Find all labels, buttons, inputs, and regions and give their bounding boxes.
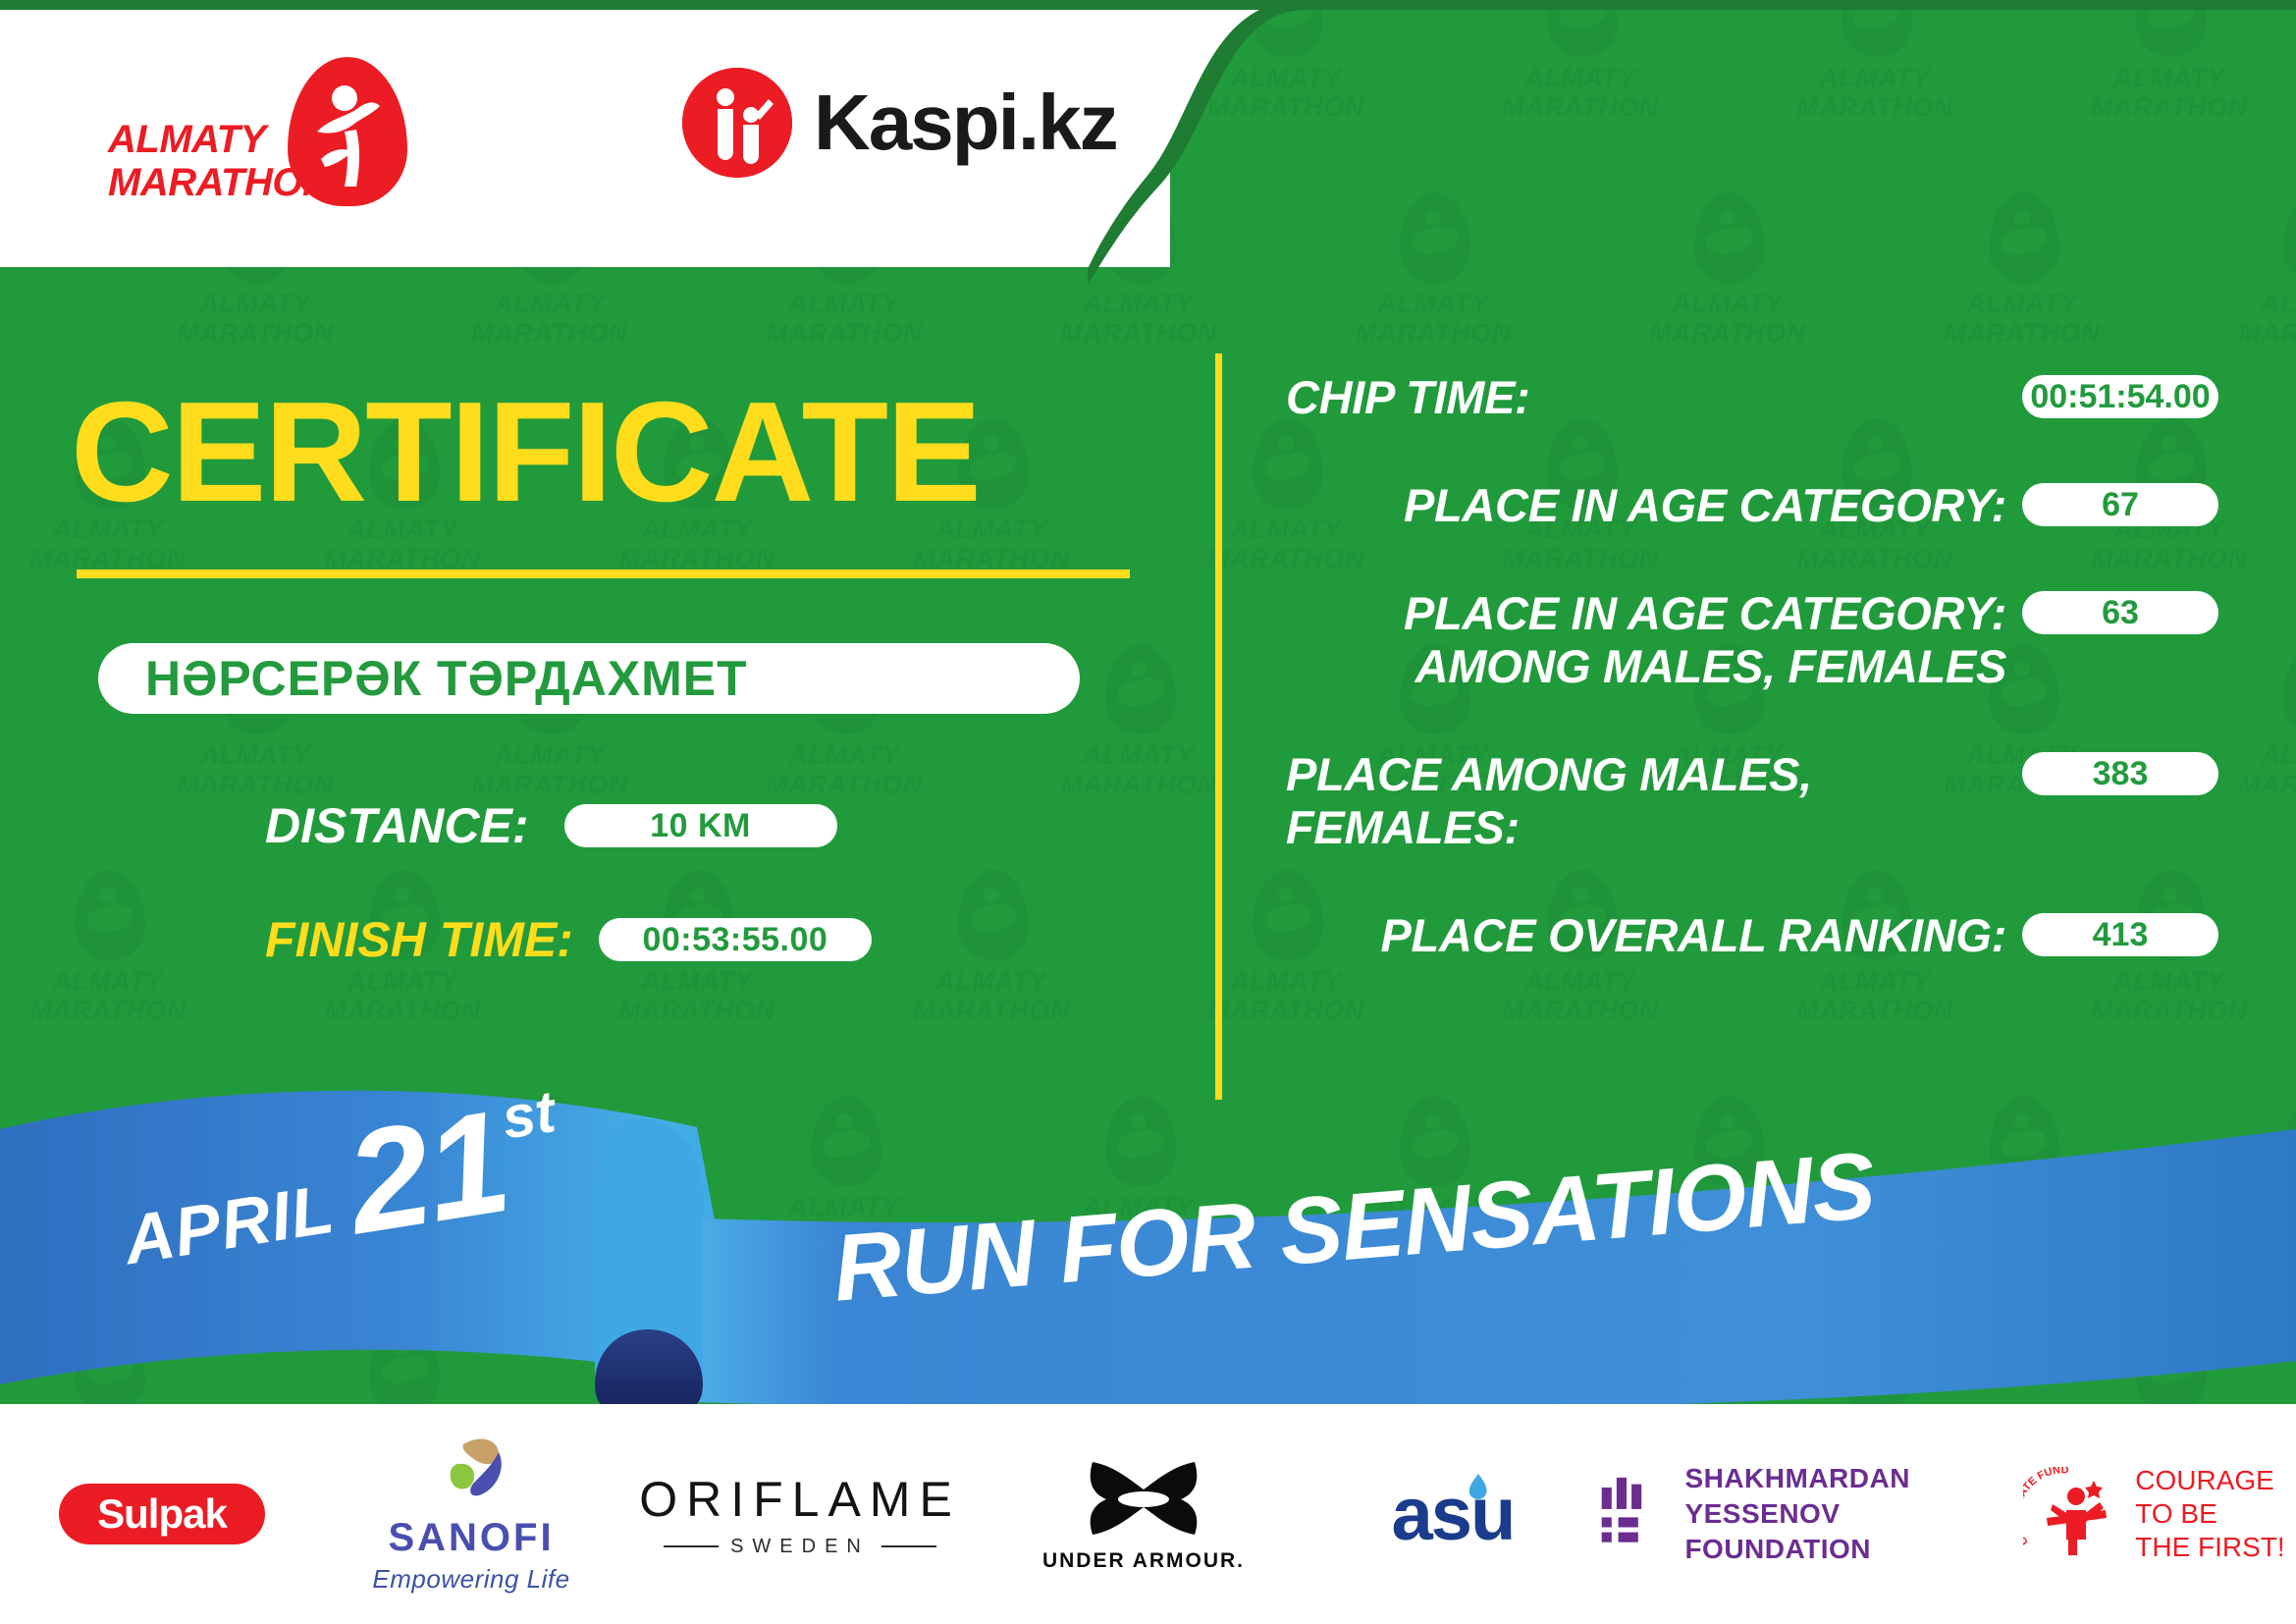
stat-value: 63 [2022, 591, 2218, 634]
vertical-divider [1215, 353, 1222, 1100]
watermark-tile: ALMATYMARATHON [844, 864, 1139, 1090]
yessenov-line-1: SHAKHMARDAN YESSENOV [1684, 1461, 2012, 1532]
watermark-line-2: MARATHON [0, 996, 255, 1026]
almaty-marathon-logo: ALMATY MARATHON [108, 57, 432, 214]
stat-value: 67 [2022, 483, 2218, 526]
sanofi-tagline: Empowering Life [372, 1564, 569, 1595]
watermark-drop-icon [1989, 192, 2059, 283]
courage-fund-logo: CORPORATE FUND COURAGE TO BE THE FIRST! [2023, 1464, 2284, 1564]
yessenov-mark-icon [1600, 1469, 1661, 1559]
event-day: 21 [339, 1093, 516, 1253]
watermark-line-1: ALMATY [108, 740, 402, 771]
asu-wordmark: asu [1392, 1473, 1515, 1556]
courage-fund-mark-icon: CORPORATE FUND [2023, 1467, 2121, 1561]
watermark-line-2: MARATHON [697, 318, 991, 349]
watermark-line-2: MARATHON [1875, 318, 2169, 349]
sanofi-mark-icon [428, 1435, 514, 1511]
participant-name-value: НӘРСЕРӘК ТӘРДАХМЕТ [145, 650, 748, 707]
watermark-line-1: ALMATY [402, 289, 697, 319]
yessenov-wordmark: SHAKHMARDAN YESSENOV FOUNDATION [1684, 1461, 2012, 1567]
watermark-drop-icon [1105, 644, 1176, 734]
watermark-line-1: ALMATY [697, 289, 991, 319]
yessenov-line-2: FOUNDATION [1684, 1532, 2012, 1567]
watermark-tile: ALMATYMARATHON [2022, 0, 2296, 187]
participant-name-field: НӘРСЕРӘК ТӘРДАХМЕТ [98, 643, 1080, 714]
watermark-tile: ALMATYMARATHON [255, 864, 550, 1090]
watermark-line-1: ALMATY [991, 740, 1286, 771]
distance-label: DISTANCE: [265, 797, 529, 854]
kaspi-logo: Kaspi.kz [682, 69, 1117, 177]
kaspi-people-circle-icon [682, 68, 792, 178]
oriflame-tagline: SWEDEN [730, 1536, 870, 1558]
watermark-drop-icon [958, 870, 1029, 960]
watermark-line-1: ALMATY [0, 966, 255, 997]
watermark-drop-icon [75, 870, 145, 960]
sanofi-logo: SANOFI Empowering Life [372, 1435, 569, 1595]
watermark-line-1: ALMATY [2169, 289, 2296, 319]
watermark-tile: ALMATYMARATHON [1433, 0, 1728, 187]
title-underline [77, 569, 1130, 578]
sponsor-yessenov-foundation: SHAKHMARDAN YESSENOV FOUNDATION [1600, 1435, 2012, 1593]
watermark-line-2: MARATHON [991, 318, 1286, 349]
stat-row: PLACE OVERALL RANKING:413 [1286, 909, 2218, 962]
asu-logo: asu [1392, 1472, 1515, 1557]
watermark-line-1: ALMATY [1433, 63, 1728, 93]
stat-label: PLACE AMONG MALES, FEMALES: [1286, 748, 2022, 854]
distance-row: DISTANCE: 10 KM [265, 797, 837, 854]
watermark-line-1: ALMATY [402, 740, 697, 771]
sponsor-sanofi: SANOFI Empowering Life [324, 1435, 618, 1593]
under-armour-logo: UNDER ARMOUR. [1042, 1456, 1245, 1573]
watermark-line-2: MARATHON [108, 770, 402, 800]
watermark-line-2: MARATHON [402, 770, 697, 800]
courage-line-2: TO BE [2135, 1497, 2284, 1531]
watermark-tile: ALMATYMARATHON [550, 864, 844, 1090]
stats-list: CHIP TIME:00:51:54.00PLACE IN AGE CATEGO… [1286, 371, 2218, 1017]
sponsor-under-armour: UNDER ARMOUR. [982, 1435, 1306, 1593]
sulpak-logo: Sulpak [59, 1484, 265, 1544]
stat-label: CHIP TIME: [1286, 371, 2022, 424]
certificate-page: ALMATYMARATHONALMATYMARATHONALMATYMARATH… [0, 0, 2296, 1624]
watermark-line-2: MARATHON [255, 996, 550, 1026]
watermark-line-2: MARATHON [2169, 318, 2296, 349]
watermark-line-2: MARATHON [1580, 318, 1875, 349]
oriflame-subline: SWEDEN [639, 1536, 961, 1558]
watermark-line-1: ALMATY [108, 289, 402, 319]
watermark-line-2: MARATHON [1433, 92, 1728, 123]
stat-row: PLACE IN AGE CATEGORY: AMONG MALES, FEMA… [1286, 587, 2218, 693]
stat-label: PLACE IN AGE CATEGORY: [1286, 479, 2022, 532]
sanofi-wordmark: SANOFI [372, 1516, 569, 1560]
stat-label: PLACE OVERALL RANKING: [1286, 909, 2022, 962]
sponsor-asu: asu [1306, 1435, 1600, 1593]
watermark-line-2: MARATHON [1728, 92, 2022, 123]
sponsor-bar: Sulpak SANOFI Empowering Life ORIFLAME S… [0, 1404, 2296, 1624]
watermark-line-2: MARATHON [991, 770, 1286, 800]
oriflame-rule-right [881, 1545, 936, 1547]
watermark-drop-icon [2283, 644, 2296, 734]
logo-line-1: ALMATY [108, 118, 294, 161]
watermark-line-1: ALMATY [697, 740, 991, 771]
watermark-line-2: MARATHON [108, 318, 402, 349]
watermark-line-2: MARATHON [844, 996, 1139, 1026]
watermark-line-1: ALMATY [550, 966, 844, 997]
oriflame-logo: ORIFLAME SWEDEN [639, 1471, 961, 1558]
under-armour-wordmark: UNDER ARMOUR. [1042, 1549, 1245, 1573]
watermark-drop-icon [1400, 192, 1470, 283]
watermark-line-1: ALMATY [844, 966, 1139, 997]
logo-line-2: MARATHON [108, 161, 294, 204]
stat-value: 00:51:54.00 [2022, 375, 2218, 418]
watermark-line-1: ALMATY [1728, 63, 2022, 93]
watermark-drop-icon [2283, 192, 2296, 283]
watermark-line-2: MARATHON [2022, 92, 2296, 123]
finish-time-value: 00:53:55.00 [599, 918, 872, 961]
page-title: CERTIFICATE [71, 383, 980, 520]
watermark-line-2: MARATHON [550, 996, 844, 1026]
oriflame-rule-left [664, 1545, 719, 1547]
top-dark-green-rule [0, 0, 2296, 10]
watermark-line-2: MARATHON [1286, 318, 1580, 349]
sponsor-courage-fund: CORPORATE FUND COURAGE TO BE THE FIRST! [2012, 1435, 2296, 1593]
watermark-line-2: MARATHON [402, 318, 697, 349]
stat-label: PLACE IN AGE CATEGORY: AMONG MALES, FEMA… [1286, 587, 2022, 693]
stat-row: PLACE AMONG MALES, FEMALES:383 [1286, 748, 2218, 854]
courage-line-3: THE FIRST! [2135, 1531, 2284, 1564]
sponsor-oriflame: ORIFLAME SWEDEN [618, 1435, 982, 1593]
watermark-line-1: ALMATY [255, 966, 550, 997]
watermark-line-1: ALMATY [2022, 63, 2296, 93]
watermark-line-1: ALMATY [1580, 289, 1875, 319]
stat-value: 383 [2022, 752, 2218, 795]
watermark-tile: ALMATYMARATHON [0, 864, 255, 1090]
almaty-marathon-wordmark: ALMATY MARATHON [108, 118, 294, 204]
watermark-line-2: MARATHON [697, 770, 991, 800]
oriflame-wordmark: ORIFLAME [639, 1471, 961, 1528]
courage-line-1: COURAGE [2135, 1464, 2284, 1497]
watermark-tile: ALMATYMARATHON [1728, 0, 2022, 187]
stat-value: 413 [2022, 913, 2218, 956]
stat-row: PLACE IN AGE CATEGORY:67 [1286, 479, 2218, 532]
sponsor-sulpak: Sulpak [0, 1435, 324, 1593]
watermark-line-1: ALMATY [991, 289, 1286, 319]
asu-droplet-icon [1465, 1474, 1490, 1503]
finish-time-row: FINISH TIME: 00:53:55.00 [265, 911, 872, 968]
under-armour-mark-icon [1075, 1456, 1212, 1539]
yessenov-logo: SHAKHMARDAN YESSENOV FOUNDATION [1600, 1461, 2012, 1567]
finish-time-label: FINISH TIME: [265, 911, 573, 968]
watermark-line-1: ALMATY [1286, 289, 1580, 319]
svg-text:CORPORATE FUND: CORPORATE FUND [2023, 1467, 2069, 1547]
watermark-drop-icon [1694, 192, 1765, 283]
kaspi-wordmark: Kaspi.kz [814, 78, 1117, 168]
header-curve-shape [1088, 0, 1304, 285]
courage-fund-wordmark: COURAGE TO BE THE FIRST! [2135, 1464, 2284, 1564]
event-day-suffix: st [498, 1077, 560, 1152]
stat-row: CHIP TIME:00:51:54.00 [1286, 371, 2218, 424]
watermark-line-1: ALMATY [1875, 289, 2169, 319]
distance-value: 10 KM [564, 804, 837, 847]
